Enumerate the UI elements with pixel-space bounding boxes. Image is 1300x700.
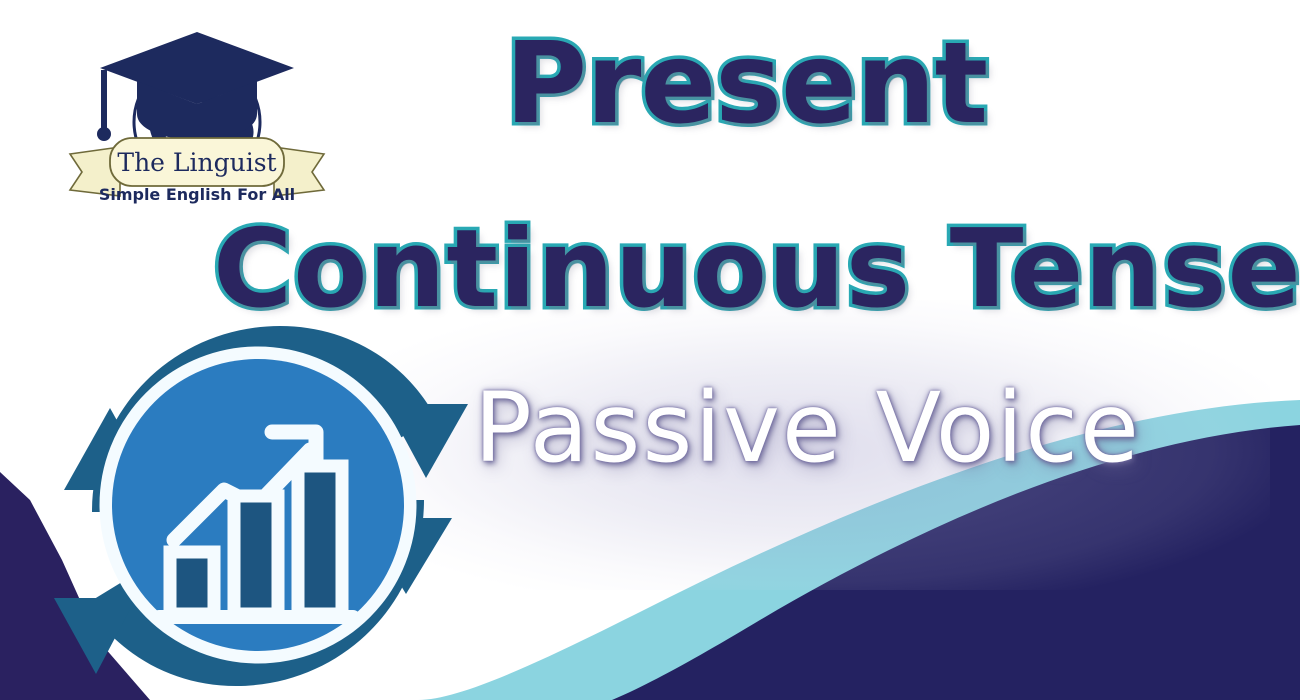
graduation-cap-icon — [97, 32, 294, 141]
brand-logo[interactable]: The Linguist Simple English For All — [62, 18, 332, 208]
logo-tagline: Simple English For All — [99, 185, 295, 204]
page-subtitle: Passive Voice — [474, 380, 1141, 476]
page-title-line-1: Present — [505, 28, 987, 140]
growth-cycle-icon — [48, 300, 468, 700]
slide-canvas: The Linguist Simple English For All Pres… — [0, 0, 1300, 700]
logo-brand-text: The Linguist — [117, 148, 276, 177]
